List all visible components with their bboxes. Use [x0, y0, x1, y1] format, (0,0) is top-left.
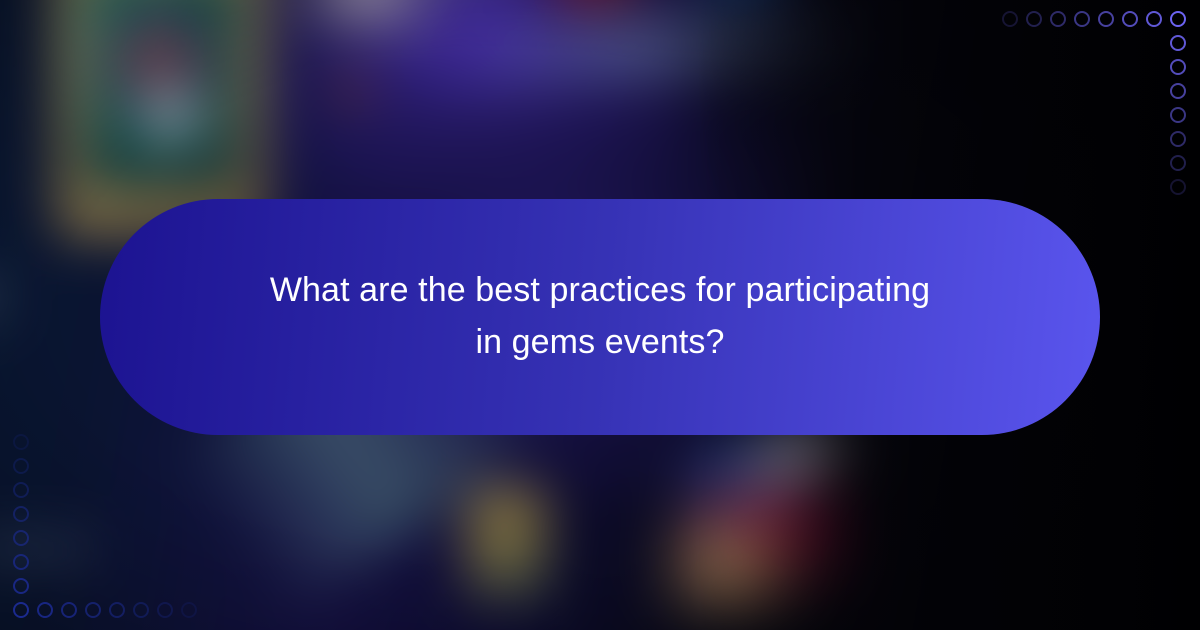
decor-dot — [13, 554, 29, 570]
decor-dot — [133, 602, 149, 618]
decor-dot — [13, 434, 29, 450]
decor-dot — [1002, 11, 1018, 27]
decor-dot — [13, 530, 29, 546]
decor-dot — [181, 602, 197, 618]
decor-dot — [1170, 59, 1186, 75]
decor-dot — [109, 602, 125, 618]
decor-dot — [13, 602, 29, 618]
decor-dot — [1170, 107, 1186, 123]
decor-dot — [157, 602, 173, 618]
decor-dot — [13, 578, 29, 594]
decor-dot — [85, 602, 101, 618]
decor-dot — [1170, 35, 1186, 51]
decor-dot — [1170, 83, 1186, 99]
decor-dot — [13, 506, 29, 522]
decor-dot — [1170, 155, 1186, 171]
decor-dot — [1050, 11, 1066, 27]
decor-dot — [1026, 11, 1042, 27]
decor-dot — [1170, 131, 1186, 147]
decor-dot — [1146, 11, 1162, 27]
decor-dot — [1122, 11, 1138, 27]
social-share-card: What are the best practices for particip… — [0, 0, 1200, 630]
decor-dot — [1074, 11, 1090, 27]
question-text: What are the best practices for particip… — [270, 265, 930, 368]
decor-dot — [37, 602, 53, 618]
decor-dot — [13, 482, 29, 498]
decor-dot — [61, 602, 77, 618]
decor-dot — [13, 458, 29, 474]
decor-dot — [1098, 11, 1114, 27]
decor-dot — [1170, 179, 1186, 195]
decor-dot — [1170, 11, 1186, 27]
question-card: What are the best practices for particip… — [100, 199, 1100, 435]
